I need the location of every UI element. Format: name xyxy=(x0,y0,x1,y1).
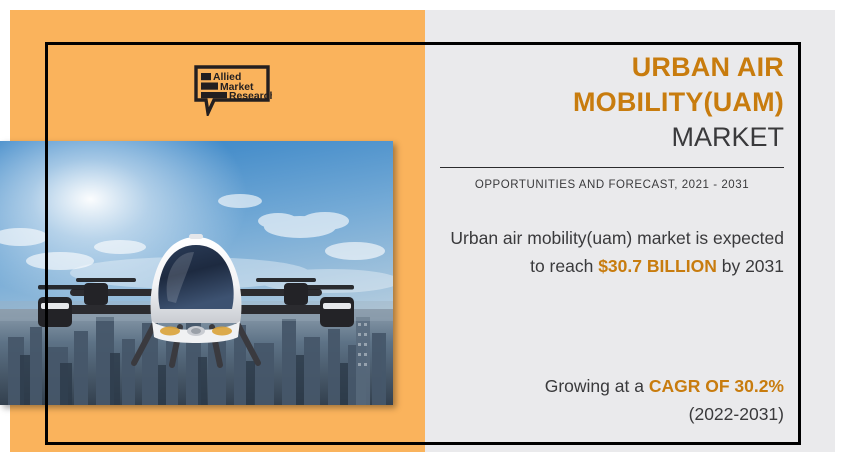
cagr-value: CAGR OF 30.2% xyxy=(649,376,784,396)
page-title-line2: MOBILITY(UAM) xyxy=(440,85,784,120)
allied-market-research-logo: Allied Market Research xyxy=(192,64,272,116)
page-title-market: MARKET xyxy=(440,120,784,155)
page-subtitle: OPPORTUNITIES AND FORECAST, 2021 - 2031 xyxy=(440,179,784,191)
urban-air-mobility-drone-photo xyxy=(0,141,393,405)
infographic-root: Allied Market Research xyxy=(0,0,847,470)
page-title-brand: URBAN AIR MOBILITY(UAM) xyxy=(440,50,784,119)
stat-suffix: by 2031 xyxy=(717,256,784,276)
cagr-period: (2022-2031) xyxy=(689,404,784,424)
cagr-prefix: Growing at a xyxy=(545,376,649,396)
header-block: URBAN AIR MOBILITY(UAM) MARKET OPPORTUNI… xyxy=(440,50,784,191)
svg-text:Research: Research xyxy=(229,91,272,102)
cagr-statement: Growing at a CAGR OF 30.2% (2022-2031) xyxy=(440,372,784,429)
stat-value: $30.7 BILLION xyxy=(598,256,717,276)
title-divider xyxy=(440,167,784,169)
market-value-statement: Urban air mobility(uam) market is expect… xyxy=(440,224,784,281)
page-title-line1: URBAN AIR xyxy=(440,50,784,85)
